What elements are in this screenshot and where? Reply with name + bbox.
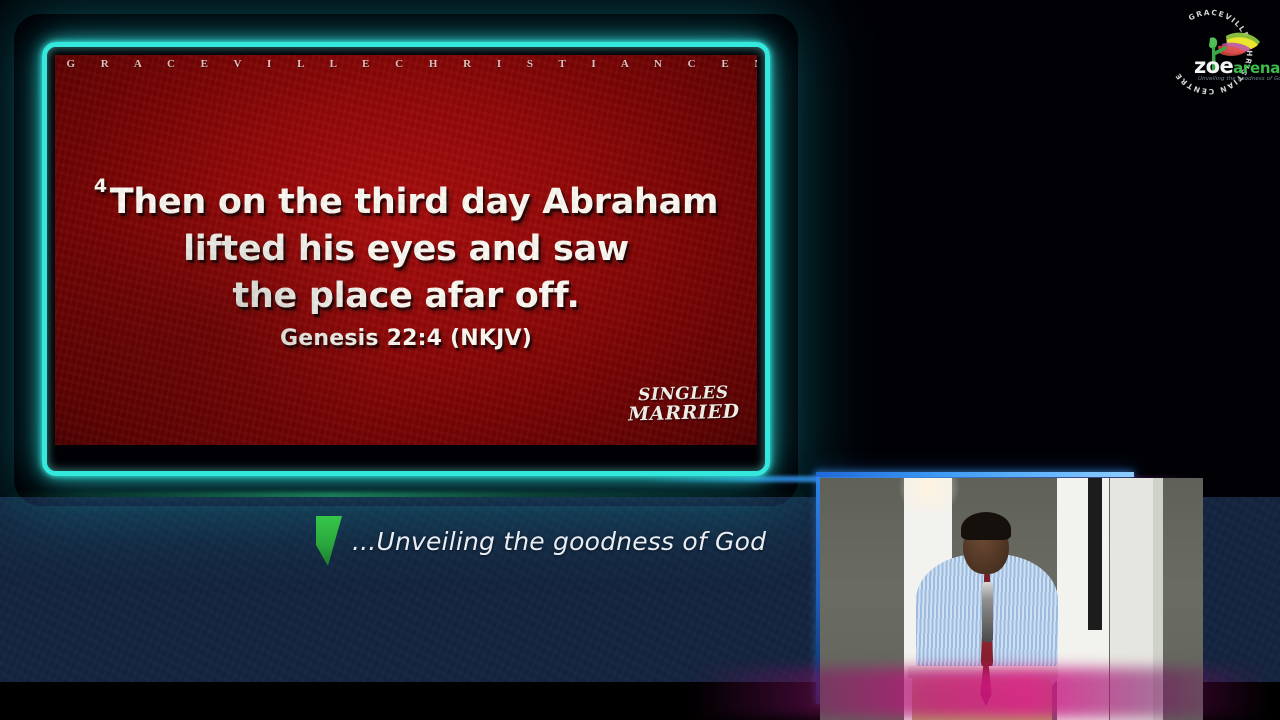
video-dark-strip-1 [1088, 478, 1102, 630]
broadcast-stage: G R A C E V I L L E C H R I S T I A N C … [0, 0, 1280, 720]
green-chevron-icon [316, 516, 342, 566]
series-logo-singles-married: SINGLES MARRIED [627, 384, 739, 424]
series-logo-line-2: MARRIED [628, 402, 740, 424]
logo-wordmark-zoe: zoe [1194, 54, 1233, 78]
video-panel-4 [1153, 478, 1163, 720]
verse-line-2: lifted his eyes and saw [55, 226, 757, 273]
logo-wordmark-tagline: Unveiling the goodness of God [1198, 76, 1280, 82]
verse-block: 4Then on the third day Abraham lifted hi… [55, 163, 757, 351]
speaker-video-inset [820, 478, 1203, 720]
tagline-text: ...Unveiling the goodness of God [352, 527, 766, 556]
slide-header-church-name: G R A C E V I L L E C H R I S T I A N C … [55, 58, 757, 70]
verse-reference: Genesis 22:4 (NKJV) [55, 326, 757, 351]
verse-line-1: 4Then on the third day Abraham [55, 163, 757, 226]
logo-wordmark: zoearena [1194, 56, 1280, 77]
lower-third-tagline: ...Unveiling the goodness of God [316, 516, 766, 566]
verse-line-3: the place afar off. [55, 273, 757, 320]
verse-line-1-text: Then on the third day Abraham [110, 182, 718, 222]
video-inset-top-border [816, 472, 1134, 477]
scripture-slide: G R A C E V I L L E C H R I S T I A N C … [55, 55, 757, 445]
verse-number: 4 [94, 175, 107, 197]
video-panel-3 [1110, 478, 1154, 720]
video-speaker-hair [961, 512, 1011, 540]
video-microphone [982, 582, 993, 642]
logo-wordmark-arena: arena [1233, 59, 1280, 77]
station-logo: GRACEVILLE CHRISTIAN CENTRE zoearena Unv… [1148, 4, 1272, 100]
